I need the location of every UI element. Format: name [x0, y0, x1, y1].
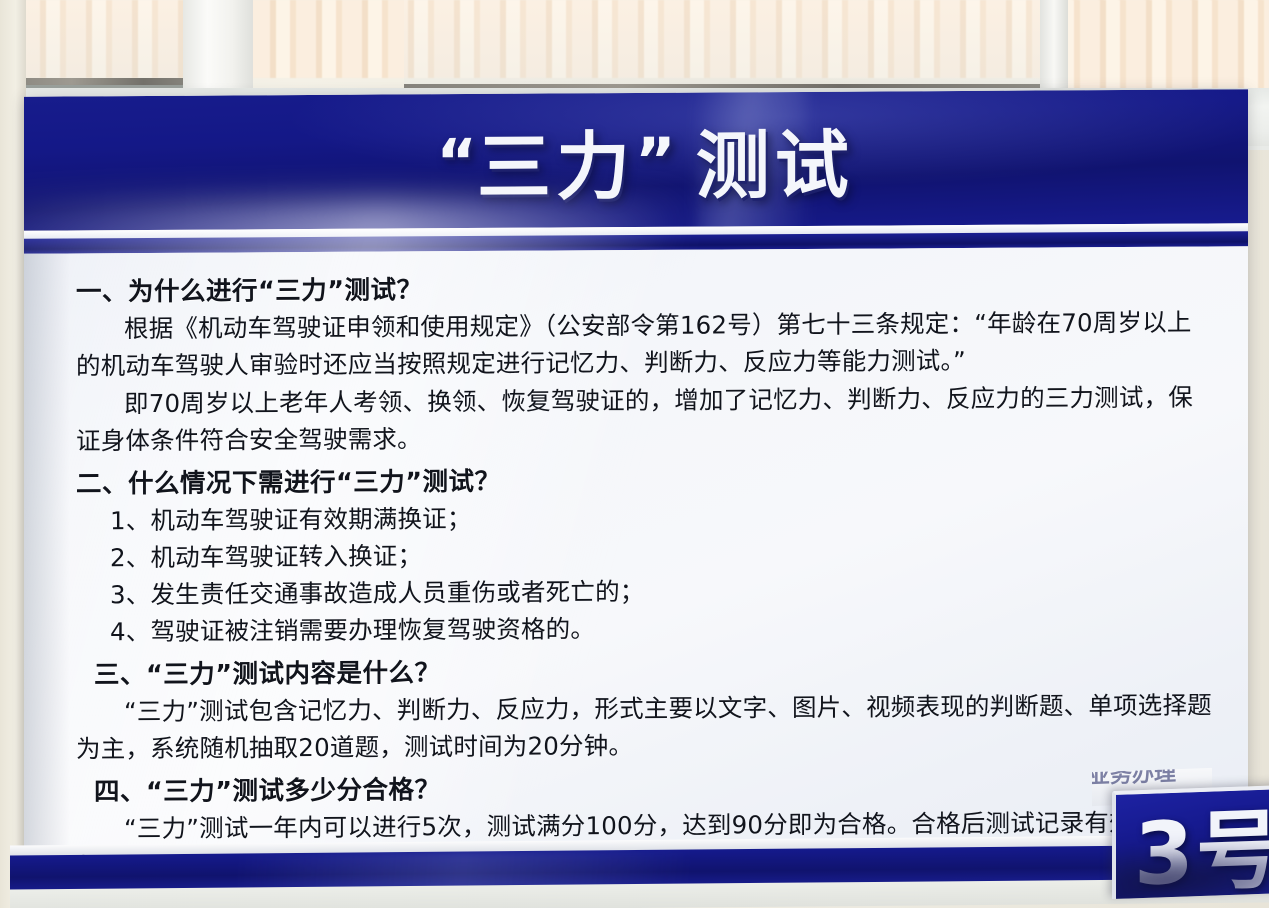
board-title: “三力”测试	[24, 89, 1248, 230]
window-pane-center	[404, 0, 1059, 96]
counter-sign-shadow	[1112, 846, 1269, 899]
section-heading-1: 一、为什么进行“三力”测试？	[76, 264, 1214, 308]
section-heading-2: 二、什么情况下需进行“三力”测试？	[76, 456, 1214, 500]
title-open-quote: “	[436, 124, 477, 197]
title-suffix: 测试	[696, 105, 854, 213]
board-body-panel: 一、为什么进行“三力”测试？ 根据《机动车驾驶证申领和使用规定》（公安部令第16…	[24, 246, 1248, 886]
counter-number-sign: 3号	[1112, 785, 1269, 899]
wall-left-strip	[0, 0, 26, 908]
section-2-item-4: 4、驾驶证被注销需要办理恢复驾驶资格的。	[110, 606, 1214, 650]
title-main: 三力	[477, 107, 635, 215]
section-heading-3: 三、“三力”测试内容是什么？	[94, 647, 1214, 691]
window-mullion-left	[183, 0, 253, 96]
room-scene: “三力”测试 一、为什么进行“三力”测试？ 根据《机动车驾驶证申领和使用规定》（…	[0, 0, 1269, 908]
counter-sign-upper-text: 业务办理	[1092, 768, 1176, 790]
section-heading-4: 四、“三力”测试多少分合格？	[94, 764, 1214, 808]
section-1-paragraph-2: 即70周岁以上老年人考领、换领、恢复驾驶证的，增加了记忆力、判断力、反应力的三力…	[76, 378, 1214, 459]
information-board: “三力”测试 一、为什么进行“三力”测试？ 根据《机动车驾驶证申领和使用规定》（…	[24, 89, 1248, 886]
section-3-paragraph-1: “三力”测试包含记忆力、判断力、反应力，形式主要以文字、图片、视频表现的判断题、…	[76, 686, 1214, 767]
board-left-shading	[24, 253, 70, 886]
section-1-paragraph-1: 根据《机动车驾驶证申领和使用规定》（公安部令第162号）第七十三条规定：“年龄在…	[76, 303, 1214, 384]
title-close-quote: ”	[635, 123, 676, 196]
board-text-content: 一、为什么进行“三力”测试？ 根据《机动车驾驶证申领和使用规定》（公安部令第16…	[76, 260, 1214, 885]
